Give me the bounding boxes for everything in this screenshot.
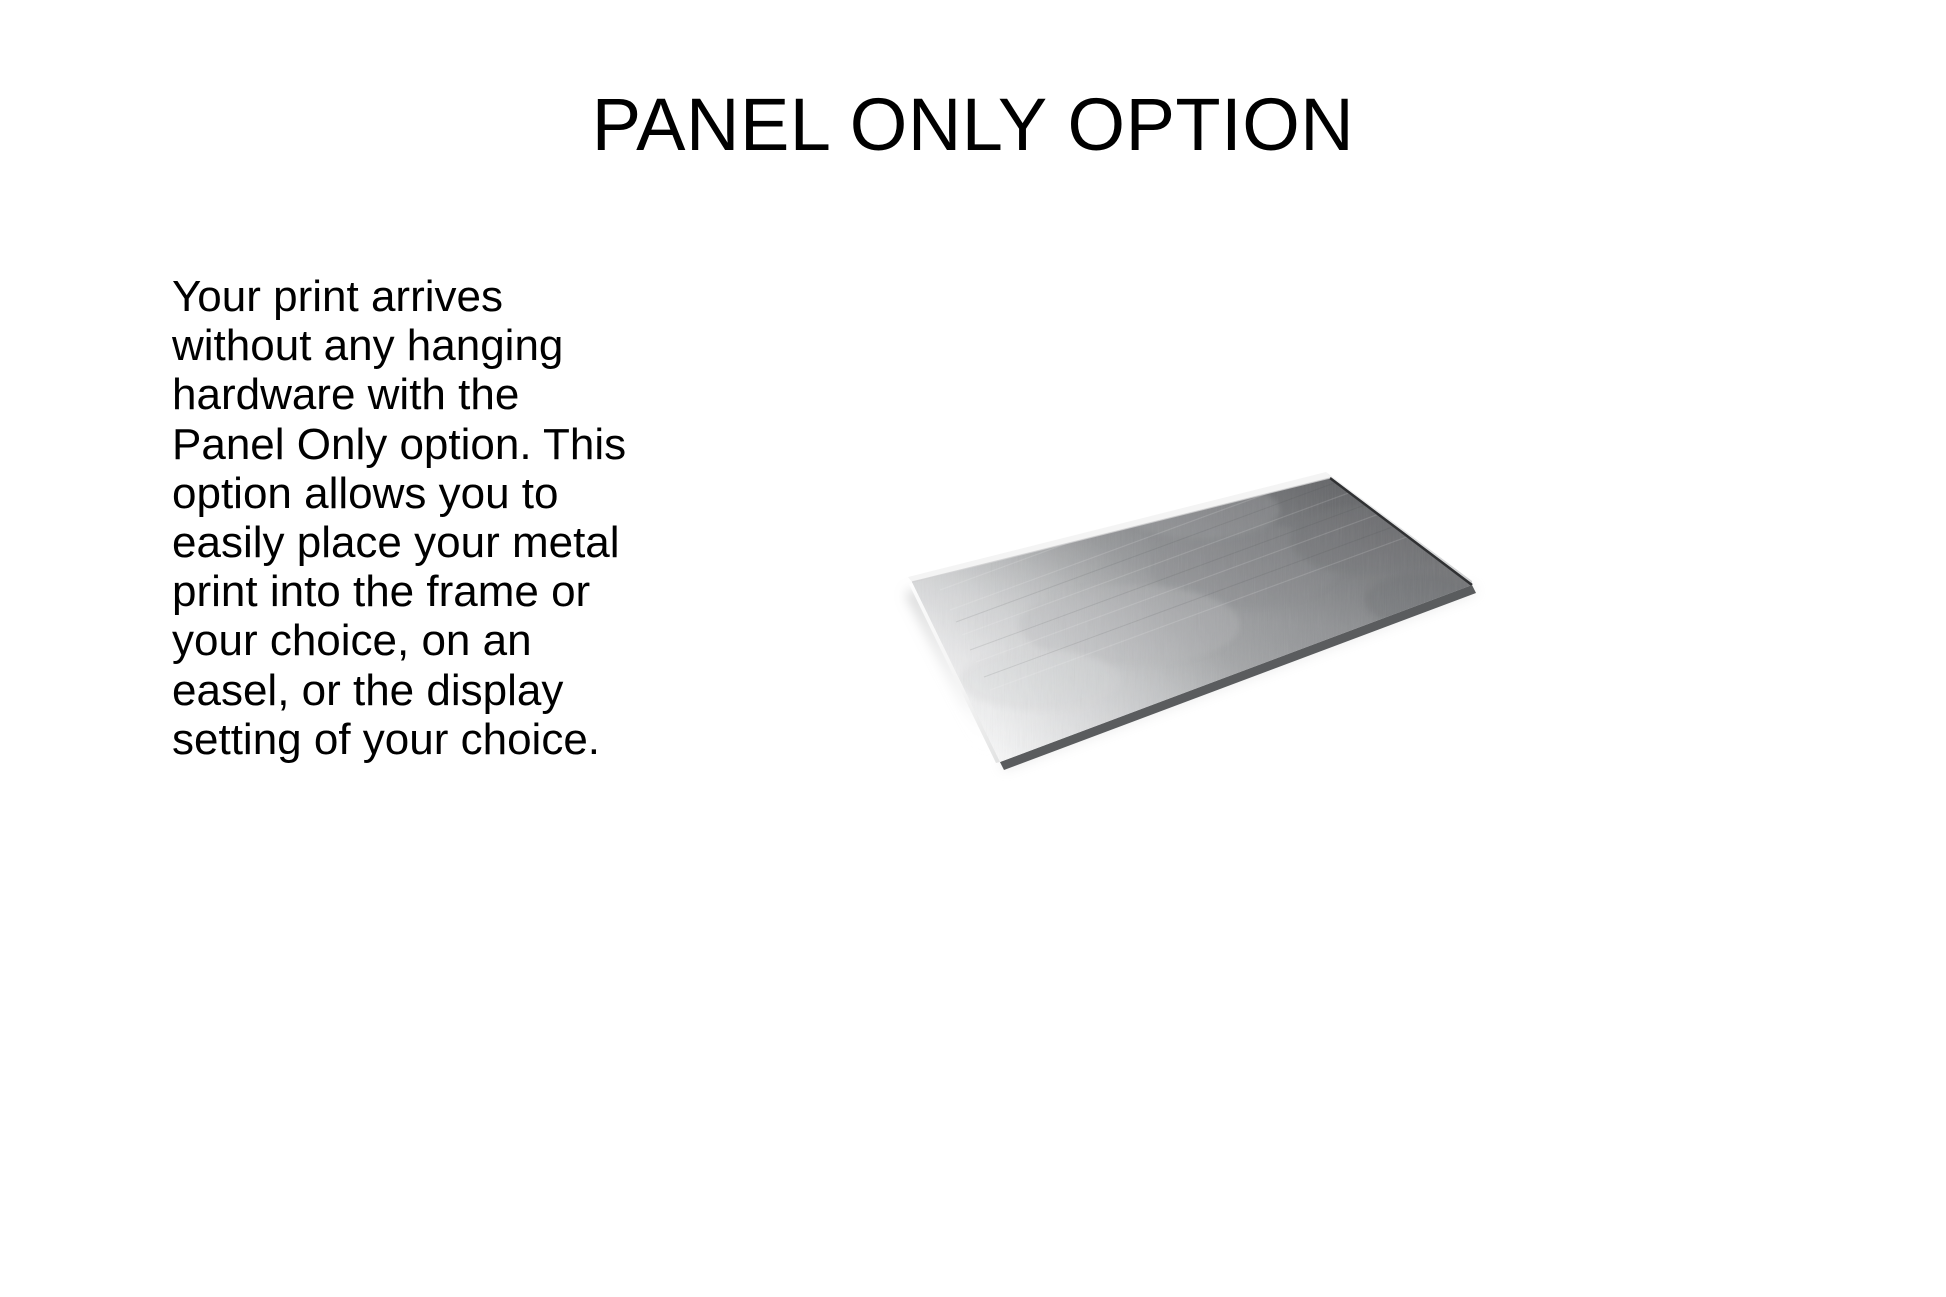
- panel-face: [700, 350, 1520, 810]
- page-title: PANEL ONLY OPTION: [0, 88, 1946, 162]
- metal-panel-svg: [700, 350, 1520, 810]
- body-paragraph: Your print arrives without any hanging h…: [172, 272, 642, 764]
- slide-canvas: PANEL ONLY OPTION Your print arrives wit…: [0, 0, 1946, 1297]
- metal-panel-figure: [700, 350, 1520, 810]
